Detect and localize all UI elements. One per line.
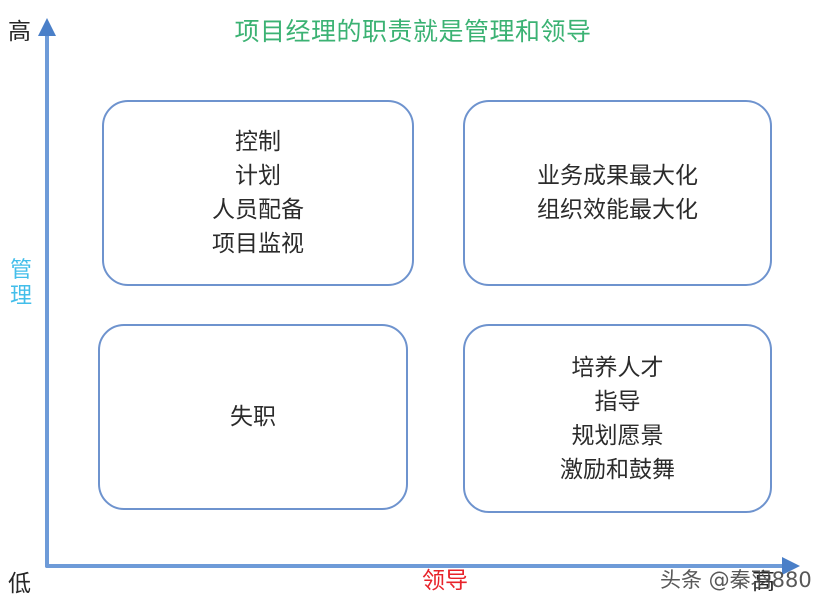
- quadrant-text-top-left: 控制 计划 人员配备 项目监视: [212, 125, 304, 261]
- y-axis-low-label: 低: [8, 570, 31, 598]
- x-axis-title: 领导: [422, 567, 468, 595]
- quadrant-box-top-left: 控制 计划 人员配备 项目监视: [102, 100, 414, 286]
- quadrant-box-bottom-right: 培养人才 指导 规划愿景 激励和鼓舞: [463, 324, 772, 513]
- quadrant-chart-canvas: 项目经理的职责就是管理和领导 高 低 高 管 理 领导 控制 计划 人员配备 项…: [0, 0, 826, 608]
- y-axis-title-char-2: 理: [4, 284, 38, 310]
- watermark: 头条 @秦羽880: [660, 566, 812, 594]
- y-axis-title: 管 理: [4, 258, 38, 310]
- quadrant-box-bottom-left: 失职: [98, 324, 408, 510]
- quadrant-text-top-right: 业务成果最大化 组织效能最大化: [537, 159, 698, 227]
- y-axis-high-label: 高: [8, 18, 31, 46]
- quadrant-text-bottom-right: 培养人才 指导 规划愿景 激励和鼓舞: [560, 351, 675, 487]
- y-axis-title-char-1: 管: [4, 258, 38, 284]
- y-axis-arrow-icon: [38, 18, 56, 36]
- y-axis-line: [45, 34, 49, 568]
- quadrant-box-top-right: 业务成果最大化 组织效能最大化: [463, 100, 772, 286]
- page-title: 项目经理的职责就是管理和领导: [0, 16, 826, 48]
- quadrant-text-bottom-left: 失职: [230, 400, 276, 434]
